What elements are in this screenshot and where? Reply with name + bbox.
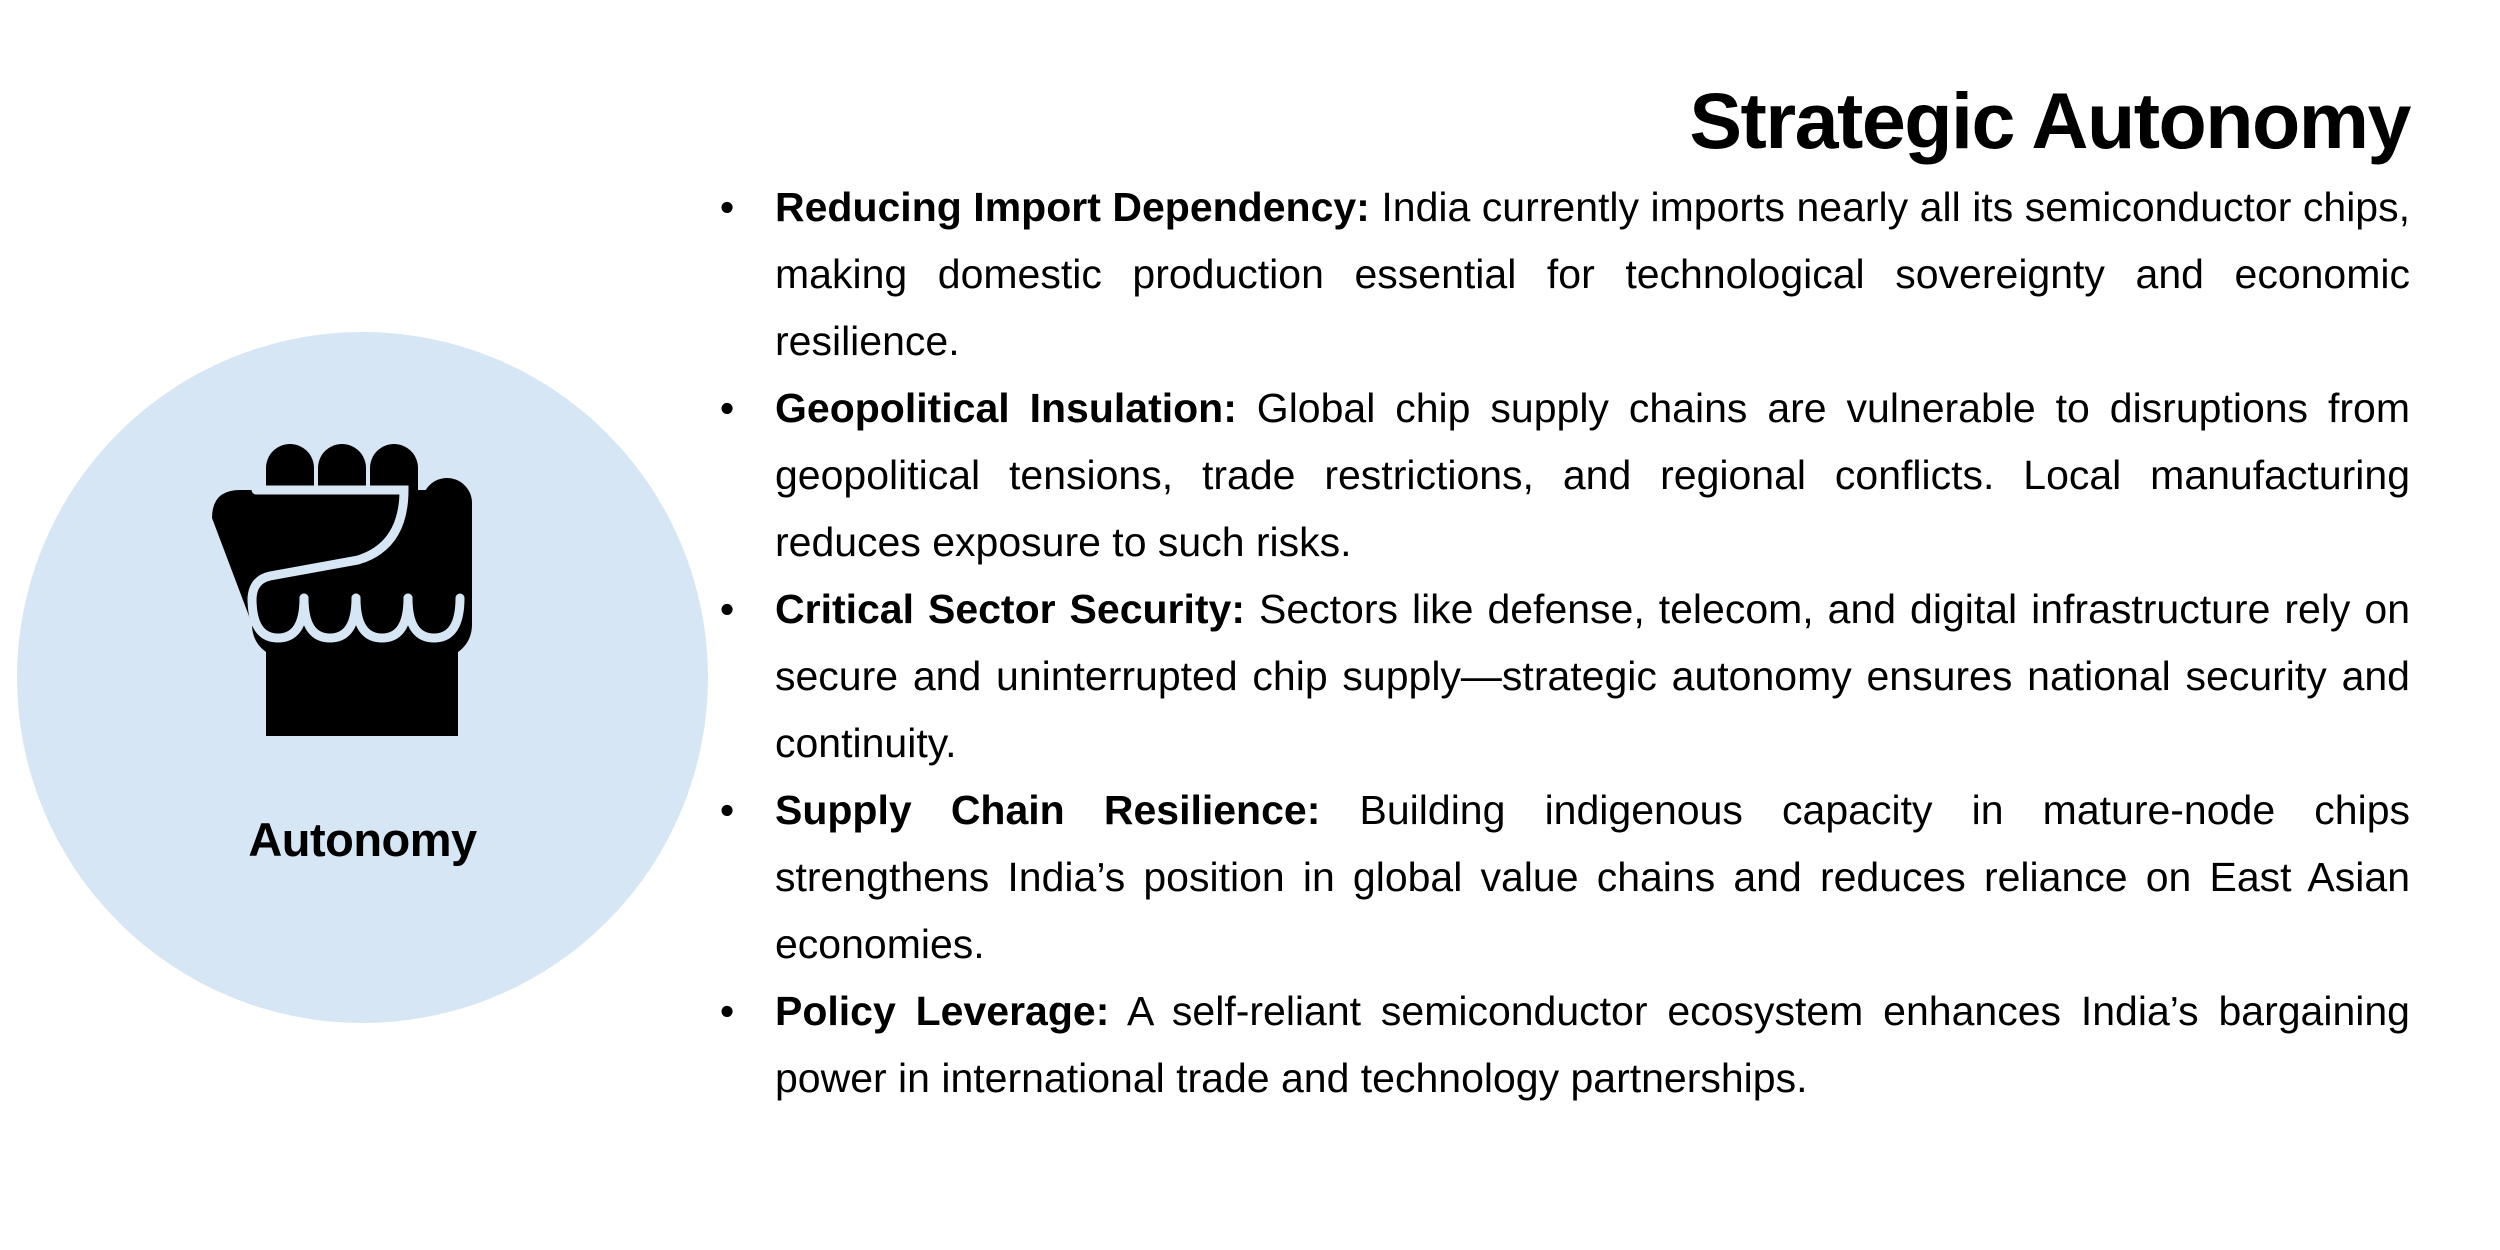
- bullet-list: •Reducing Import Dependency: India curre…: [700, 174, 2410, 1112]
- icon-caption-label: Autonomy: [17, 812, 708, 867]
- raised-fist-icon: [208, 428, 518, 758]
- bullet-lead-label: Policy Leverage:: [775, 988, 1109, 1034]
- list-item: •Critical Sector Security: Sectors like …: [700, 576, 2410, 777]
- bullet-marker-icon: •: [718, 576, 736, 643]
- bullet-lead-label: Critical Sector Security:: [775, 586, 1245, 632]
- bullet-marker-icon: •: [718, 978, 736, 1045]
- bullet-marker-icon: •: [718, 174, 736, 241]
- list-item: •Geopolitical Insulation: Global chip su…: [700, 375, 2410, 576]
- page-title: Strategic Autonomy: [1689, 81, 2410, 160]
- slide-canvas: Autonomy Strategic Autonomy •Reducing Im…: [0, 0, 2500, 1250]
- bullet-marker-icon: •: [718, 375, 736, 442]
- list-item: •Reducing Import Dependency: India curre…: [700, 174, 2410, 375]
- bullet-lead-label: Geopolitical Insulation:: [775, 385, 1237, 431]
- bullet-lead-label: Reducing Import Dependency:: [775, 184, 1370, 230]
- bullet-marker-icon: •: [718, 777, 736, 844]
- bullet-lead-label: Supply Chain Resilience:: [775, 787, 1320, 833]
- content-panel: Strategic Autonomy •Reducing Import Depe…: [700, 0, 2425, 1250]
- list-item: •Policy Leverage: A self-reliant semicon…: [700, 978, 2410, 1112]
- icon-panel: Autonomy: [17, 332, 708, 1023]
- list-item: •Supply Chain Resilience: Building indig…: [700, 777, 2410, 978]
